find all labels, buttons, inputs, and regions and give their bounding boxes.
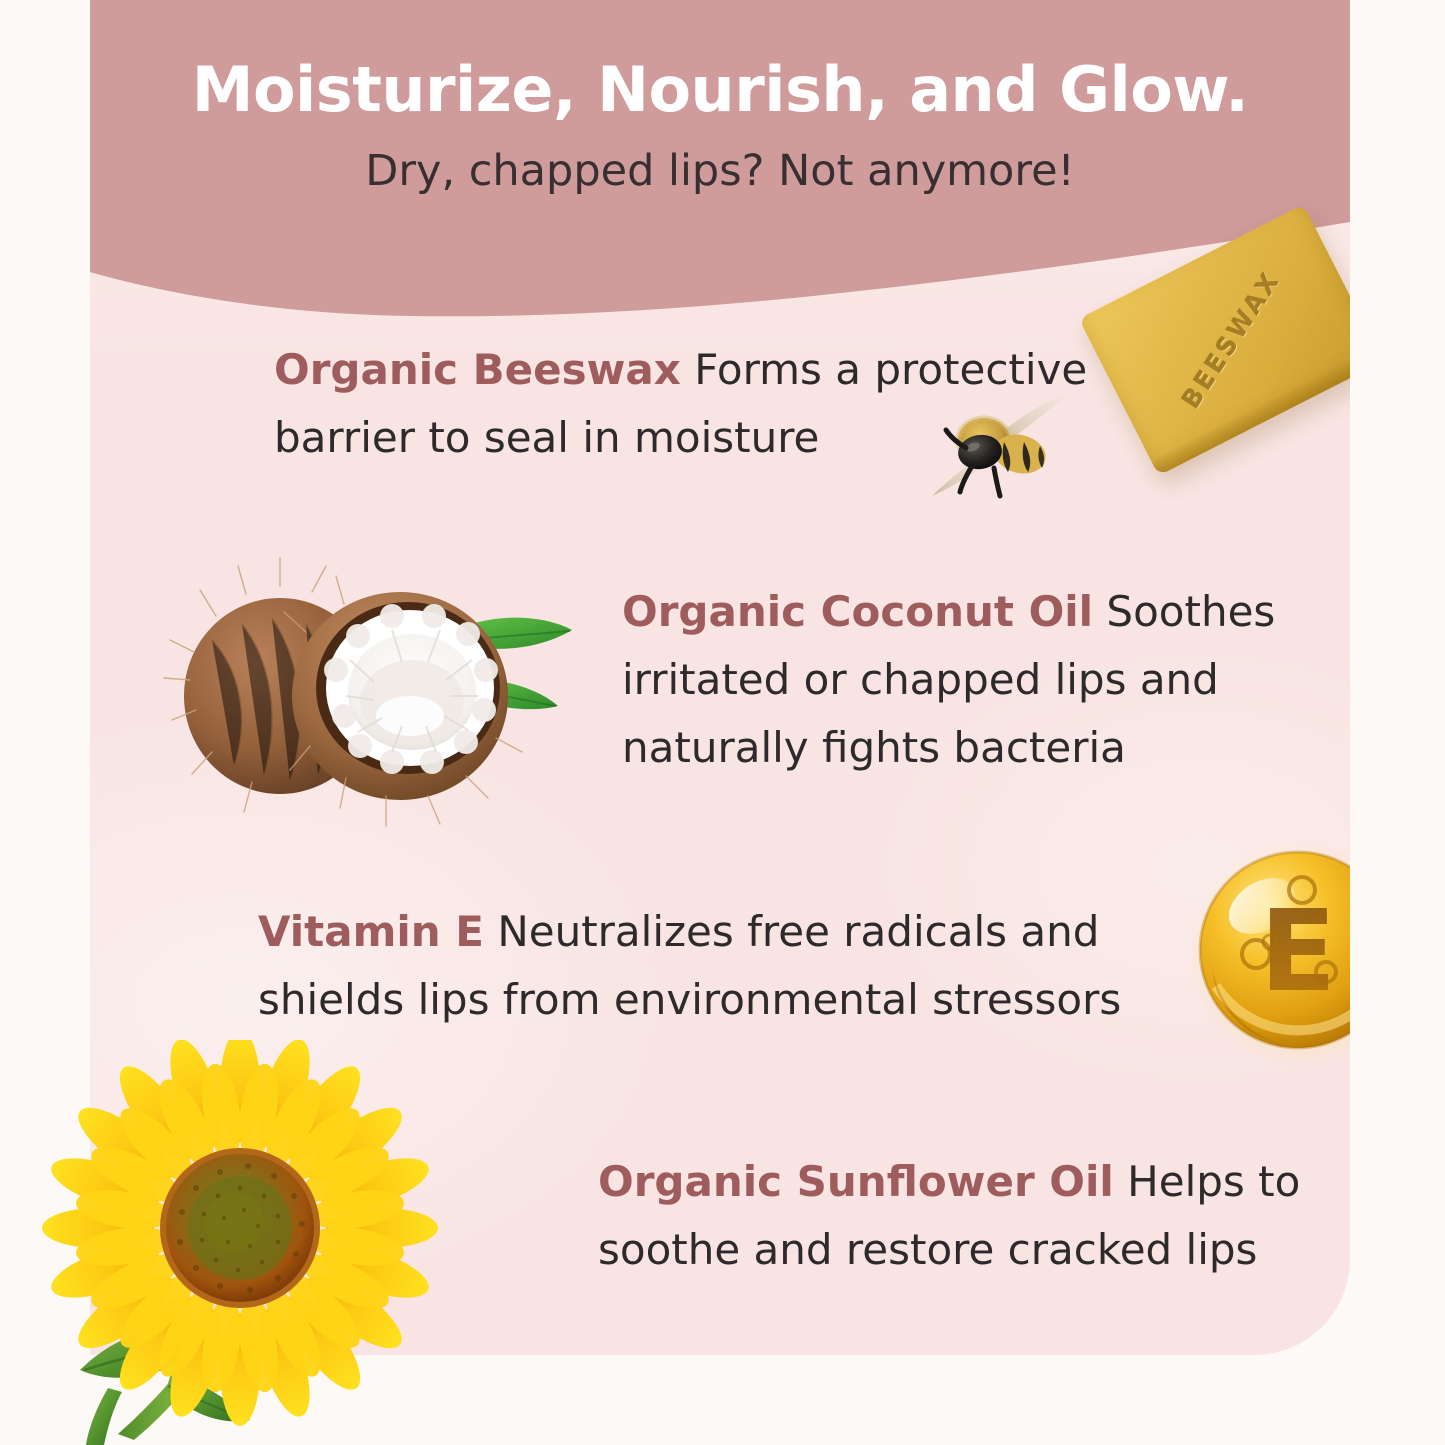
ingredient-text-coconut: Organic Coconut Oil Soothes irritated or… (622, 578, 1322, 782)
ingredient-name-vitamin-e: Vitamin E (258, 907, 484, 956)
ingredient-name-coconut: Organic Coconut Oil (622, 587, 1093, 636)
ingredient-name-sunflower: Organic Sunflower Oil (598, 1157, 1114, 1206)
vitamin-e-capsule-image: E (1186, 838, 1350, 1070)
ingredient-name-beeswax: Organic Beeswax (274, 345, 681, 394)
ingredient-text-sunflower: Organic Sunflower Oil Helps to soothe an… (598, 1148, 1338, 1284)
page-title: Moisturize, Nourish, and Glow. (90, 56, 1350, 124)
ingredient-item-beeswax: Organic Beeswax Forms a protective barri… (274, 336, 1114, 472)
infographic-stage: Moisturize, Nourish, and Glow. Dry, chap… (0, 0, 1445, 1445)
ingredient-item-vitamin-e: Vitamin E Neutralizes free radicals and … (258, 898, 1178, 1034)
ingredient-item-sunflower: Organic Sunflower Oil Helps to soothe an… (598, 1148, 1338, 1284)
page-subtitle: Dry, chapped lips? Not anymore! (90, 146, 1350, 198)
sunflower-image (22, 1040, 442, 1445)
ingredient-text-vitamin-e: Vitamin E Neutralizes free radicals and … (258, 898, 1178, 1034)
ingredient-text-beeswax: Organic Beeswax Forms a protective barri… (274, 336, 1114, 472)
header-text-group: Moisturize, Nourish, and Glow. Dry, chap… (90, 0, 1350, 198)
coconut-image (160, 520, 590, 850)
ingredient-item-coconut: Organic Coconut Oil Soothes irritated or… (622, 578, 1322, 782)
